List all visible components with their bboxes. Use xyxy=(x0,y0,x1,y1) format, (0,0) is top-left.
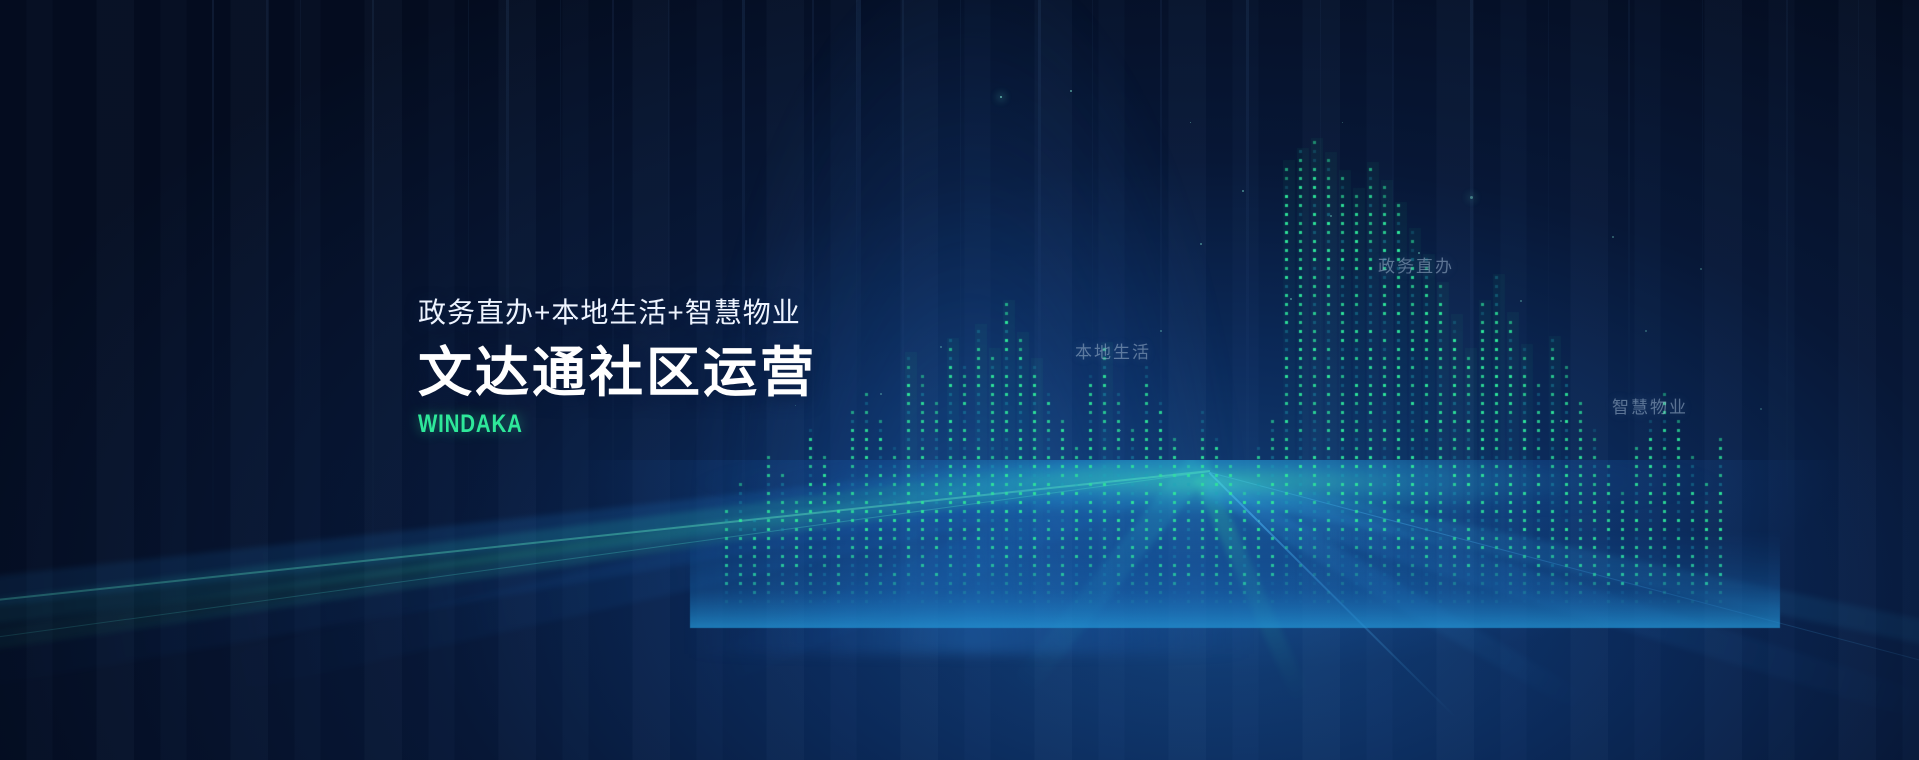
banner-title: 文达通社区运营 xyxy=(418,344,817,402)
glow-particle xyxy=(1070,90,1072,92)
glow-particle xyxy=(1200,243,1202,245)
glow-particle xyxy=(1520,300,1522,302)
glow-particle xyxy=(1290,298,1292,300)
glow-particle xyxy=(1242,190,1244,192)
banner-subtitle: 政务直办+本地生活+智慧物业 xyxy=(418,296,817,330)
glow-particle xyxy=(1048,520,1050,522)
glow-particle xyxy=(940,346,942,348)
glow-particle xyxy=(1330,215,1332,217)
glow-particle xyxy=(1397,480,1399,482)
glow-particle xyxy=(1418,252,1420,254)
glow-particle xyxy=(1645,330,1647,332)
glow-particle xyxy=(1258,520,1260,522)
banner-stage: 本地生活政务直办智慧物业 政务直办+本地生活+智慧物业 文达通社区运营 WIND… xyxy=(0,0,1919,760)
brand-wordmark: WINDAKA xyxy=(418,412,745,437)
glow-particle xyxy=(1612,236,1614,238)
glow-particle xyxy=(1120,430,1121,431)
glow-particle xyxy=(880,393,882,395)
headline-block: 政务直办+本地生活+智慧物业 文达通社区运营 WINDAKA xyxy=(418,296,817,437)
glow-particle xyxy=(1160,330,1162,332)
glow-particle xyxy=(1342,122,1343,123)
glow-particle xyxy=(1700,268,1702,270)
glow-particle xyxy=(1470,196,1473,199)
dot-matrix-skyline-chart xyxy=(0,0,1919,760)
glow-particle xyxy=(1560,420,1562,422)
glow-particle xyxy=(1190,122,1191,123)
glow-particle xyxy=(1000,96,1002,98)
glow-particle xyxy=(1760,408,1762,410)
